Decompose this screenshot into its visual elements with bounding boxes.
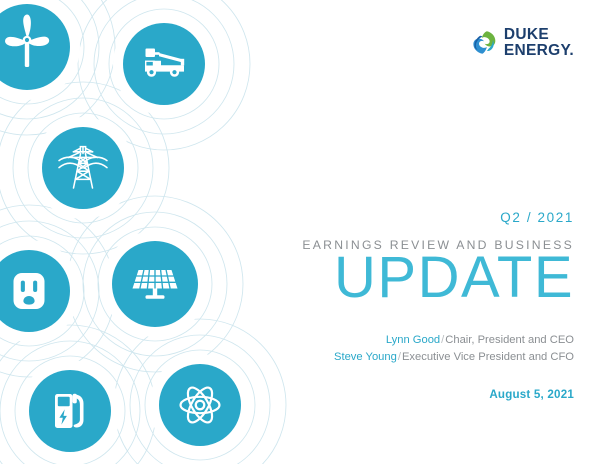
solar-panel-icon: [112, 241, 198, 327]
deck-title: UPDATE: [234, 251, 574, 304]
presenter-role: Executive Vice President and CFO: [402, 351, 574, 363]
presenter-name: Steve Young: [334, 351, 397, 363]
duke-energy-swirl-mark-icon: [470, 29, 497, 56]
logo-line-energy: ENERGY.: [504, 43, 574, 59]
title-block: Q2 / 2021 EARNINGS REVIEW AND BUSINESS U…: [234, 210, 574, 304]
duke-energy-logo: DUKE ENERGY.: [470, 27, 574, 59]
presenter-row: Lynn Good/Chair, President and CEO: [214, 332, 574, 349]
presenter-role: Chair, President and CEO: [445, 334, 574, 346]
duke-energy-logo-text: DUKE ENERGY.: [504, 27, 574, 59]
deck-date: August 5, 2021: [489, 388, 574, 401]
ev-charger-icon: [29, 370, 111, 452]
transmission-tower-icon: [42, 127, 124, 209]
logo-line-duke: DUKE: [504, 27, 574, 43]
quarter-label: Q2 / 2021: [234, 210, 574, 225]
bucket-truck-icon: [123, 23, 205, 105]
atom-icon: [159, 364, 241, 446]
presenter-row: Steve Young/Executive Vice President and…: [214, 349, 574, 366]
presentation-slide: DUKE ENERGY. Q2 / 2021 EARNINGS REVIEW A…: [0, 0, 600, 464]
presenter-name: Lynn Good: [386, 334, 440, 346]
presenter-list: Lynn Good/Chair, President and CEO Steve…: [214, 332, 574, 366]
